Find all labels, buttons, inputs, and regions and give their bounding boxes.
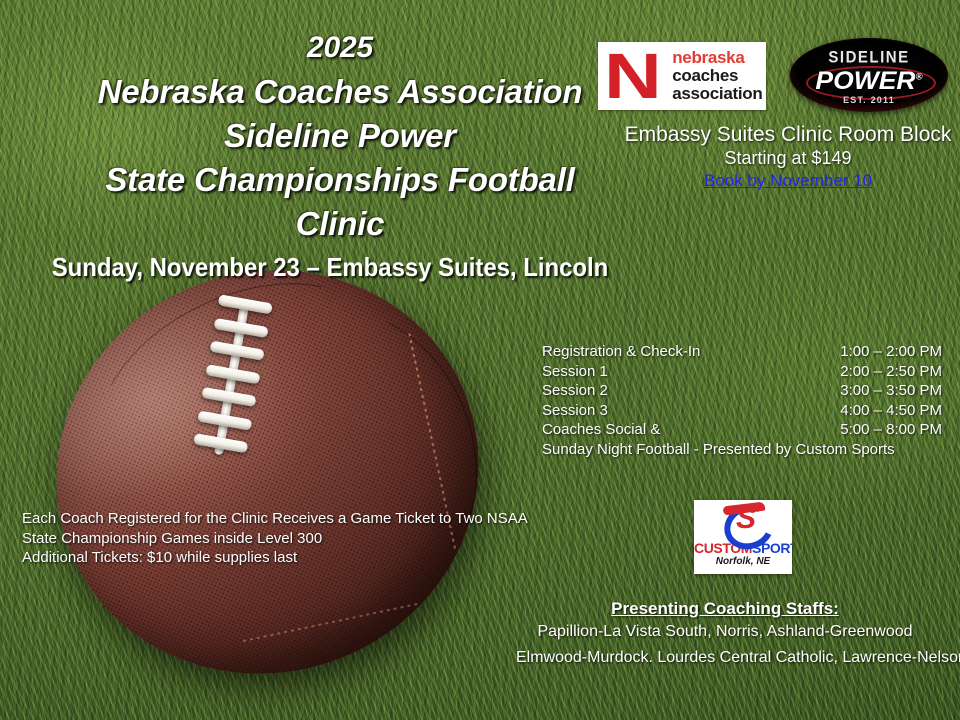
nca-word-association: association <box>672 85 762 103</box>
nebraska-coaches-association-logo: N nebraska coaches association <box>598 42 766 110</box>
nca-monogram-n-icon: N <box>604 48 669 104</box>
schedule-label: Session 2 <box>542 381 608 401</box>
custom-sports-city: Norfolk, NE <box>694 556 792 568</box>
schedule-time: 3:00 – 3:50 PM <box>840 381 942 401</box>
clinic-schedule: Registration & Check-In 1:00 – 2:00 PM S… <box>542 342 942 459</box>
hotel-room-block: Embassy Suites Clinic Room Block Startin… <box>618 122 958 191</box>
schedule-time: 4:00 – 4:50 PM <box>840 401 942 421</box>
nca-wordmark: nebraska coaches association <box>672 49 762 103</box>
schedule-row: Coaches Social & 5:00 – 8:00 PM <box>542 420 942 440</box>
schedule-footnote: Sunday Night Football - Presented by Cus… <box>542 440 942 460</box>
presenting-coaching-staffs: Presenting Coaching Staffs: Papillion-La… <box>490 598 960 672</box>
ticket-note-line-3: Additional Tickets: $10 while supplies l… <box>22 548 528 568</box>
schedule-row: Session 2 3:00 – 3:50 PM <box>542 381 942 401</box>
title-line-org: Nebraska Coaches Association <box>0 70 680 114</box>
ticket-note-line-1: Each Coach Registered for the Clinic Rec… <box>22 509 528 529</box>
page-title: 2025 Nebraska Coaches Association Sideli… <box>0 26 680 246</box>
title-year: 2025 <box>0 26 680 70</box>
hotel-block-title: Embassy Suites Clinic Room Block <box>618 122 958 147</box>
sideline-wordmark-power: POWER® <box>790 67 948 96</box>
title-line-event: State Championships Football <box>0 158 680 202</box>
custom-sports-monogram-icon: S <box>694 500 792 540</box>
schedule-label: Coaches Social & <box>542 420 660 440</box>
title-line-sponsor: Sideline Power <box>0 114 680 158</box>
nca-word-coaches: coaches <box>672 67 762 85</box>
custom-sports-s-letter: S <box>736 504 756 534</box>
sideline-power-logo: SIDELINE POWER® EST. 2011 <box>790 38 948 112</box>
title-line-clinic: Clinic <box>0 202 680 246</box>
schedule-label: Registration & Check-In <box>542 342 700 362</box>
schedule-row: Session 3 4:00 – 4:50 PM <box>542 401 942 421</box>
sideline-est-year: EST. 2011 <box>790 95 948 105</box>
schedule-time: 2:00 – 2:50 PM <box>840 362 942 382</box>
ticket-information: Each Coach Registered for the Clinic Rec… <box>22 509 528 568</box>
hotel-block-price: Starting at $149 <box>618 147 958 169</box>
schedule-row: Registration & Check-In 1:00 – 2:00 PM <box>542 342 942 362</box>
coaching-staffs-heading: Presenting Coaching Staffs: <box>490 598 960 620</box>
ticket-note-line-2: State Championship Games inside Level 30… <box>22 529 528 549</box>
schedule-row: Session 1 2:00 – 2:50 PM <box>542 362 942 382</box>
book-by-date-link[interactable]: Book by November 10 <box>704 170 872 191</box>
coaching-staffs-row-1: Papillion-La Vista South, Norris, Ashlan… <box>490 620 960 644</box>
custom-sports-logo: S CUSTOMSPORTS Norfolk, NE <box>694 500 792 574</box>
schedule-time: 5:00 – 8:00 PM <box>840 420 942 440</box>
sideline-wordmark-top: SIDELINE <box>790 48 948 67</box>
registered-mark-icon: ® <box>916 72 923 82</box>
sideline-power-text: POWER <box>815 67 915 95</box>
nca-word-nebraska: nebraska <box>672 49 762 67</box>
event-date-venue: Sunday, November 23 – Embassy Suites, Li… <box>26 252 633 282</box>
flyer-canvas: 2025 Nebraska Coaches Association Sideli… <box>0 0 960 720</box>
schedule-label: Session 1 <box>542 362 608 382</box>
schedule-time: 1:00 – 2:00 PM <box>840 342 942 362</box>
coaching-staffs-row-2: Elmwood-Murdock. Lourdes Central Catholi… <box>516 644 960 672</box>
schedule-label: Session 3 <box>542 401 608 421</box>
